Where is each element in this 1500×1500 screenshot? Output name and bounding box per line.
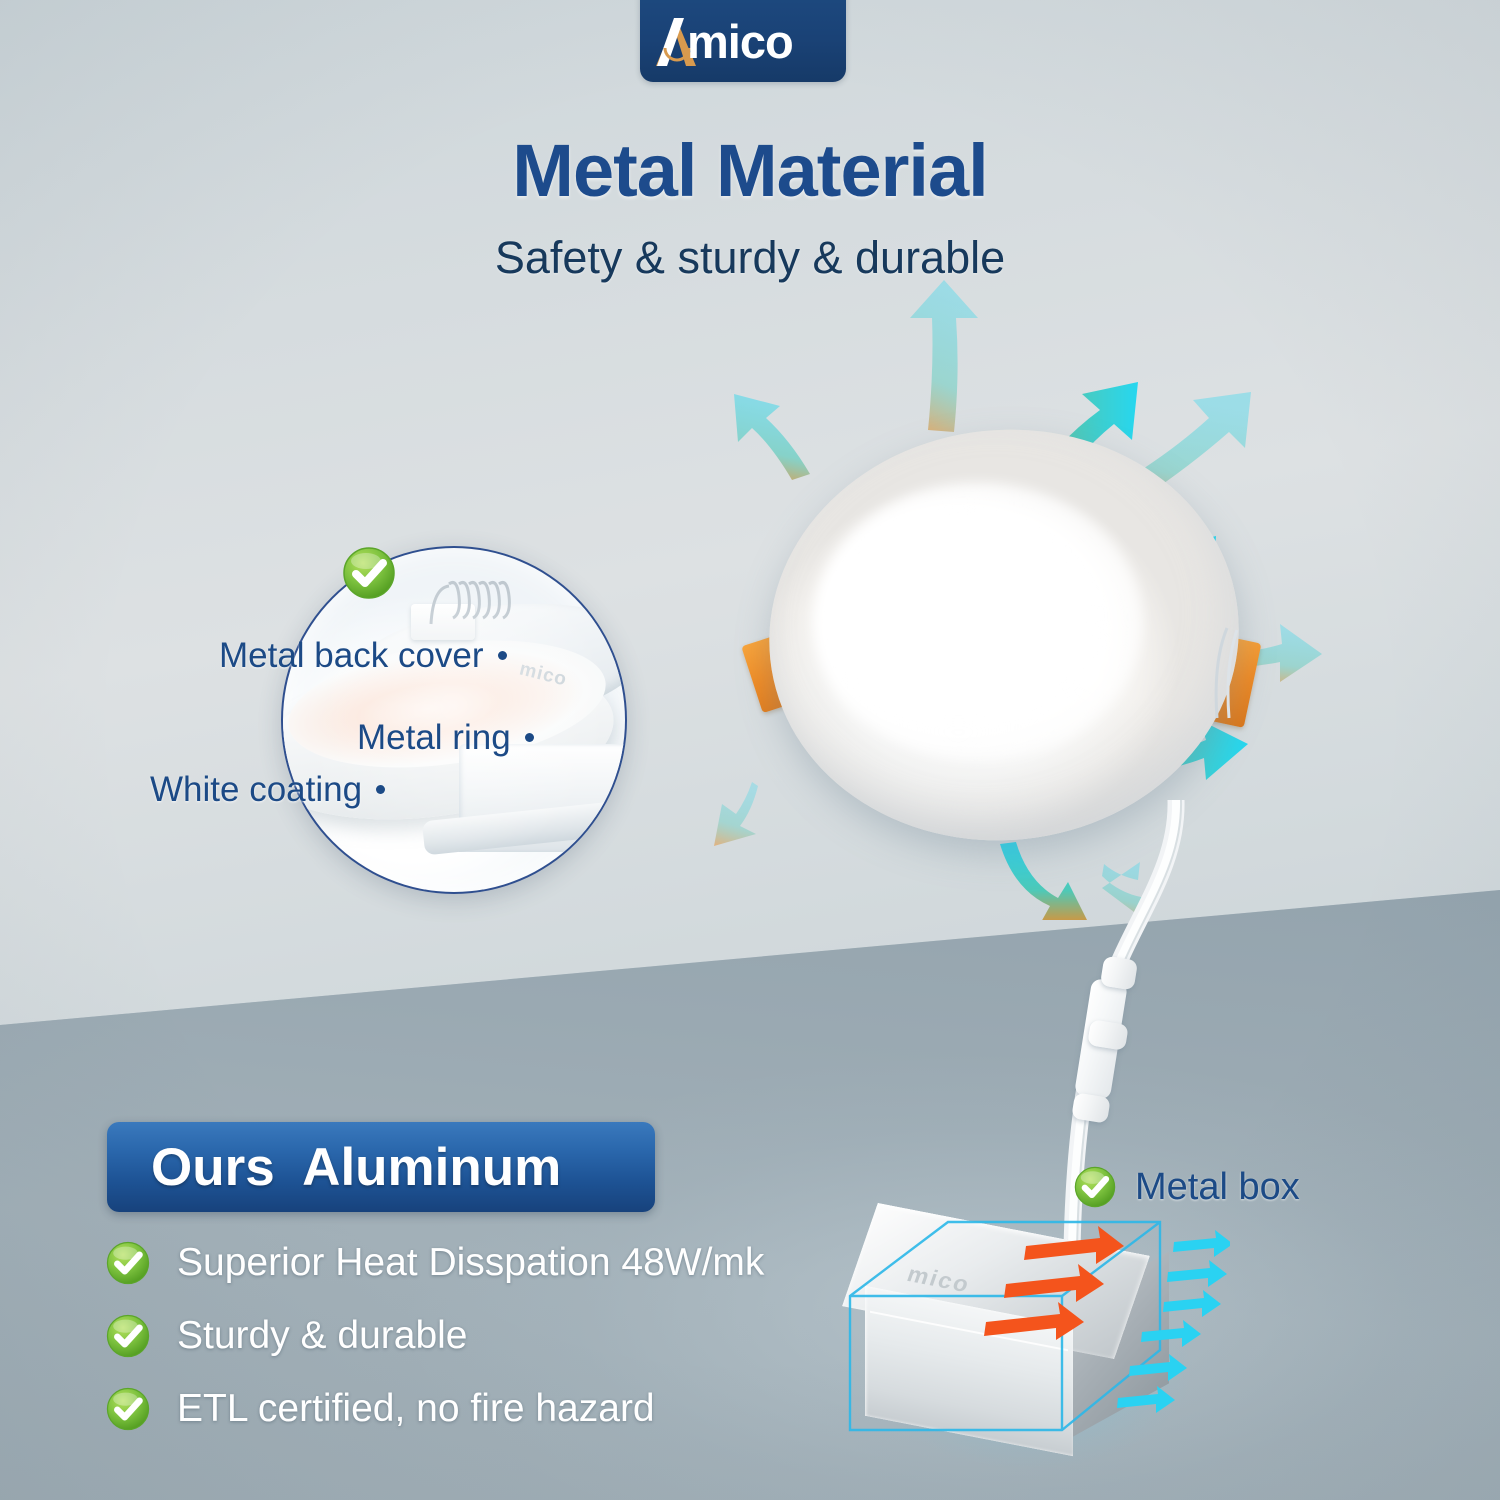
green-check-badge-icon (1073, 1165, 1117, 1209)
metal-box-label: Metal box (1135, 1166, 1300, 1209)
feature-label: Superior Heat Disspation 48W/mk (177, 1241, 764, 1285)
spring-clip-wire-icon (1211, 622, 1249, 722)
callout-label: Metal back cover (219, 636, 484, 675)
heat-out-arrows (1117, 1230, 1230, 1413)
callout-label: Metal ring (357, 718, 511, 757)
callout-metal-ring: Metal ring (357, 718, 534, 758)
product-feature-image: mico Metal Material Safety & sturdy & du… (0, 0, 1500, 1500)
feature-label: Sturdy & durable (177, 1314, 468, 1358)
ours-aluminum-banner: Ours Aluminum (107, 1122, 655, 1212)
green-check-badge-icon (105, 1240, 151, 1286)
callout-dot-icon (498, 651, 507, 660)
brand-logo: mico (640, 0, 846, 82)
logo-wordmark: mico (687, 14, 793, 70)
junction-box-group: mico (830, 1180, 1230, 1500)
callout-dot-icon (376, 785, 385, 794)
green-check-badge-icon (105, 1386, 151, 1432)
feature-item: Sturdy & durable (105, 1313, 468, 1359)
callout-label: White coating (150, 770, 362, 809)
cable-connector-collar-top (1100, 956, 1138, 991)
green-check-badge-icon (105, 1313, 151, 1359)
feature-item: Superior Heat Disspation 48W/mk (105, 1240, 764, 1286)
feature-label: ETL certified, no fire hazard (177, 1387, 655, 1431)
callout-metal-back-cover: Metal back cover (219, 636, 507, 676)
junction-box-wireframe-and-arrows (830, 1180, 1230, 1500)
metal-box-label-group: Metal box (1073, 1165, 1300, 1209)
downlight-light-core (813, 482, 1143, 762)
callout-dot-icon (525, 733, 534, 742)
page-subtitle: Safety & sturdy & durable (0, 232, 1500, 284)
callout-white-coating: White coating (150, 770, 385, 810)
feature-item: ETL certified, no fire hazard (105, 1386, 655, 1432)
banner-label: Ours Aluminum (151, 1137, 561, 1198)
page-title: Metal Material (0, 128, 1500, 213)
spring-clip-icon (423, 578, 519, 630)
green-check-badge-icon (341, 545, 397, 601)
heat-in-arrows (984, 1226, 1124, 1340)
